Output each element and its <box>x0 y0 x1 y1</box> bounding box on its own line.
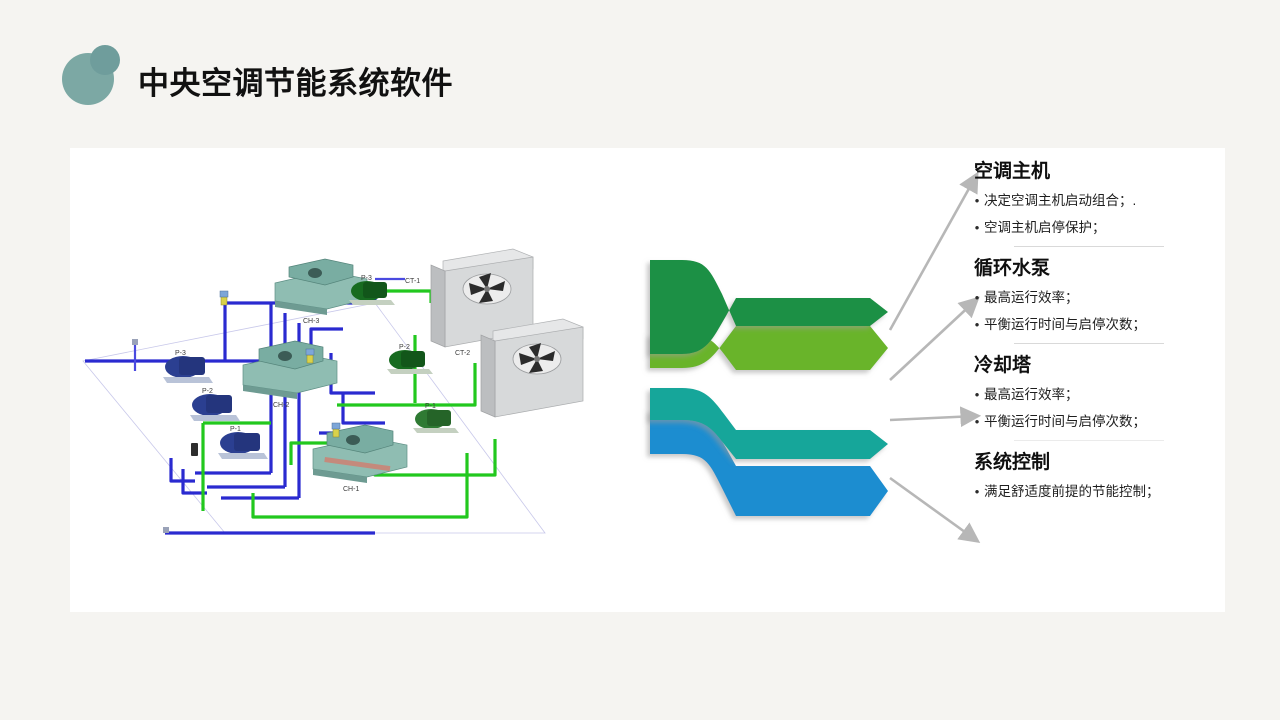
list-item: • 最高运行效率； <box>970 386 1220 403</box>
list-item: • 平衡运行时间与启停次数； <box>970 413 1220 430</box>
list-item: • 最高运行效率； <box>970 289 1220 306</box>
chiller-ch1: CH-1 <box>313 425 407 493</box>
arrow-to-pump <box>890 300 976 380</box>
info-group-tower: 冷却塔 • 最高运行效率； • 平衡运行时间与启停次数； <box>970 356 1220 441</box>
svg-text:CT-1: CT-1 <box>405 278 420 285</box>
page-title: 中央空调节能系统软件 <box>138 58 453 103</box>
logo-circle-small <box>90 45 120 75</box>
list-item: • 平衡运行时间与启停次数； <box>970 316 1220 333</box>
svg-text:P-2: P-2 <box>202 388 213 395</box>
group-divider <box>1014 246 1164 247</box>
svg-text:CH-3: CH-3 <box>303 318 319 325</box>
content-card: CH-3 CH-2 CH-1 <box>70 148 1225 612</box>
list-item: • 满足舒适度前提的节能控制； <box>970 483 1220 500</box>
svg-text:P-1: P-1 <box>230 426 241 433</box>
group-divider <box>1014 440 1164 441</box>
svg-text:CH-1: CH-1 <box>343 486 359 493</box>
bullet-dot-icon: • <box>970 192 984 209</box>
two-circles-logo-icon <box>62 45 126 107</box>
group-heading: 空调主机 <box>974 162 1220 183</box>
pump-p1-blue: P-1 <box>218 426 268 459</box>
svg-text:P-2: P-2 <box>399 344 410 351</box>
pump-p2-blue: P-2 <box>190 388 240 421</box>
svg-text:P-3: P-3 <box>175 350 186 357</box>
bullet-dot-icon: • <box>970 289 984 306</box>
plant-schematic-diagram: CH-3 CH-2 CH-1 <box>75 243 595 553</box>
group-divider <box>1014 343 1164 344</box>
svg-text:CT-2: CT-2 <box>455 350 470 357</box>
pump-p2-green: P-2 <box>387 344 433 374</box>
list-item: • 决定空调主机启动组合；. <box>970 192 1220 209</box>
bullet-dot-icon: • <box>970 316 984 333</box>
arrow-to-chiller <box>890 176 976 330</box>
bullet-dot-icon: • <box>970 386 984 403</box>
pump-p3-blue: P-3 <box>163 350 213 383</box>
group-heading: 循环水泵 <box>974 259 1220 280</box>
svg-text:CH-2: CH-2 <box>273 402 289 409</box>
info-group-chiller: 空调主机 • 决定空调主机启动组合；. • 空调主机启停保护； <box>970 162 1220 247</box>
arrow-to-control <box>890 478 976 540</box>
svg-text:P-1: P-1 <box>425 403 436 410</box>
bullet-dot-icon: • <box>970 483 984 500</box>
info-group-control: 系统控制 • 满足舒适度前提的节能控制； <box>970 453 1220 500</box>
chiller-ch2: CH-2 <box>243 341 337 409</box>
arrow-to-tower <box>890 416 976 420</box>
group-heading: 系统控制 <box>974 453 1220 474</box>
svg-text:P-3: P-3 <box>361 275 372 282</box>
info-column: 空调主机 • 决定空调主机启动组合；. • 空调主机启停保护； 循环水泵 • 最… <box>970 162 1220 510</box>
slide-header: 中央空调节能系统软件 <box>0 0 1280 148</box>
info-group-pump: 循环水泵 • 最高运行效率； • 平衡运行时间与启停次数； <box>970 259 1220 344</box>
list-item: • 空调主机启停保护； <box>970 219 1220 236</box>
bullet-dot-icon: • <box>970 219 984 236</box>
group-heading: 冷却塔 <box>974 356 1220 377</box>
bullet-dot-icon: • <box>970 413 984 430</box>
